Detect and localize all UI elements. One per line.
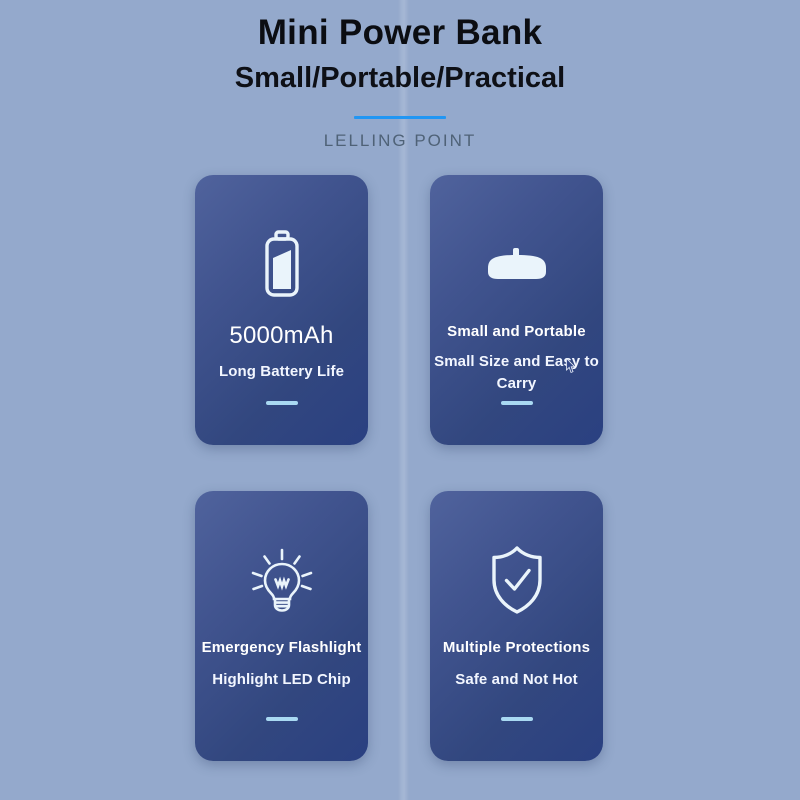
power-bank-icon [482, 225, 552, 303]
feature-headline: 5000mAh [199, 321, 364, 351]
card-accent-dash [501, 401, 533, 405]
feature-subtext: Small Size and Easy to Carry [434, 351, 599, 395]
card-accent-dash [266, 401, 298, 405]
feature-subtext: Long Battery Life [199, 361, 364, 383]
feature-card-flashlight-text: Emergency Flashlight Highlight LED Chip [195, 637, 368, 691]
feature-card-battery[interactable]: 5000mAh Long Battery Life [195, 175, 368, 445]
feature-card-protection[interactable]: Multiple Protections Safe and Not Hot [430, 491, 603, 761]
poster-header: Mini Power Bank Small/Portable/Practical… [0, 0, 800, 151]
lightbulb-icon [244, 541, 320, 619]
page-title: Mini Power Bank [0, 11, 800, 55]
feature-headline: Emergency Flashlight [199, 637, 364, 659]
feature-card-portable-text: Small and Portable Small Size and Easy t… [430, 321, 603, 395]
section-eyebrow-label: LELLING POINT [0, 131, 800, 151]
feature-subtext: Safe and Not Hot [434, 669, 599, 691]
shield-check-icon [487, 541, 547, 619]
feature-subtext: Highlight LED Chip [199, 669, 364, 691]
battery-icon [261, 225, 303, 303]
feature-card-grid: 5000mAh Long Battery Life Small and Port… [195, 175, 605, 761]
card-accent-dash [501, 717, 533, 721]
product-feature-poster: Mini Power Bank Small/Portable/Practical… [0, 0, 800, 800]
page-subtitle: Small/Portable/Practical [0, 58, 800, 98]
feature-card-battery-text: 5000mAh Long Battery Life [195, 321, 368, 383]
feature-card-flashlight[interactable]: Emergency Flashlight Highlight LED Chip [195, 491, 368, 761]
feature-headline: Small and Portable [434, 321, 599, 343]
feature-card-portable[interactable]: Small and Portable Small Size and Easy t… [430, 175, 603, 445]
card-accent-dash [266, 717, 298, 721]
accent-divider [354, 116, 446, 119]
feature-headline: Multiple Protections [434, 637, 599, 659]
feature-card-protection-text: Multiple Protections Safe and Not Hot [430, 637, 603, 691]
